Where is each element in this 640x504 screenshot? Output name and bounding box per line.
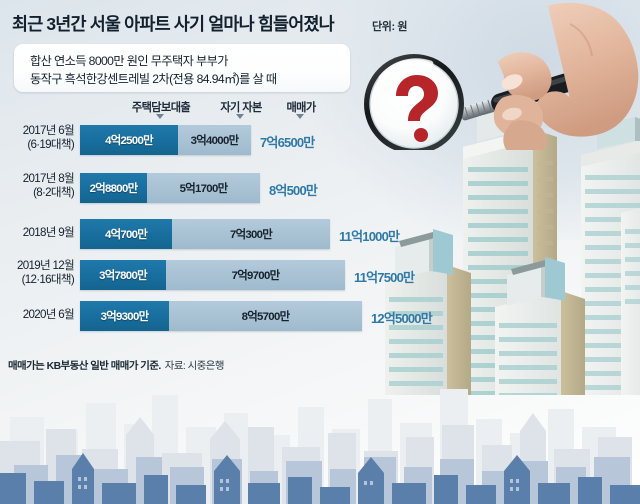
bar-segment-capital: 7억300만	[172, 219, 330, 249]
bar-total-price: 11억7500만	[354, 267, 414, 286]
page-title: 최근 3년간 서울 아파트 사기 얼마나 힘들어졌나	[12, 11, 334, 36]
row-label: 2018년 9월	[23, 226, 74, 240]
bar-segment-loan: 3억9300만	[80, 301, 169, 331]
row-label-policy: (6·19대책)	[23, 138, 74, 152]
bar-segment-capital: 3억4000만	[178, 125, 251, 155]
bar-total-price: 8억500만	[269, 180, 317, 199]
stacked-bar[interactable]: 4억700만7억300만	[80, 219, 330, 249]
column-header-price: 매매가	[256, 99, 346, 115]
row-label-date: 2019년 12월	[17, 259, 74, 272]
stacked-bar[interactable]: 3억7800만7억9700만	[80, 260, 345, 290]
city-skyline	[0, 369, 640, 504]
row-label-date: 2020년 6월	[23, 308, 74, 321]
row-label-date: 2017년 6월	[23, 124, 74, 137]
assumption-panel: 합산 연소득 8000만 원인 무주택자 부부가 동작구 흑석한강센트레빌 2차…	[14, 44, 350, 92]
unit-label: 단위: 원	[372, 18, 407, 34]
assumption-line-1: 합산 연소득 8000만 원인 무주택자 부부가	[30, 51, 228, 69]
bar-total-price: 7억6500만	[260, 132, 314, 151]
row-label: 2017년 8월(8·2대책)	[23, 172, 74, 200]
bar-segment-loan: 2억8800만	[80, 173, 147, 203]
infographic-canvas: 최근 3년간 서울 아파트 사기 얼마나 힘들어졌나 단위: 원 합산 연소득 …	[0, 0, 640, 504]
stacked-bar[interactable]: 2억8800만5억1700만	[80, 173, 260, 203]
caret-down-icon-capital	[236, 114, 244, 119]
row-label: 2020년 6월	[23, 308, 74, 322]
row-label-policy: (12·16대책)	[17, 273, 74, 287]
row-label-date: 2017년 8월	[23, 172, 74, 185]
bar-segment-capital: 8억5700만	[169, 301, 362, 331]
row-label-policy: (8·2대책)	[23, 186, 74, 200]
bar-total-price: 12억5000만	[371, 308, 432, 327]
row-label-date: 2018년 9월	[23, 226, 74, 239]
row-label: 2017년 6월(6·19대책)	[23, 124, 74, 152]
row-label: 2019년 12월(12·16대책)	[17, 259, 74, 287]
assumption-line-2: 동작구 흑석한강센트레빌 2차(전용 84.94㎡)를 살 때	[30, 69, 277, 87]
stacked-bar[interactable]: 3억9300만8억5700만	[80, 301, 362, 331]
bar-segment-loan: 4억700만	[80, 219, 172, 249]
bar-segment-loan: 4억2500만	[80, 125, 178, 155]
stacked-bar[interactable]: 4억2500만3억4000만	[80, 125, 251, 155]
bar-total-price: 11억1000만	[339, 226, 399, 245]
bar-segment-capital: 5억1700만	[147, 173, 260, 203]
bar-segment-loan: 3억7800만	[80, 260, 166, 290]
caret-down-icon-price	[296, 114, 304, 119]
bar-segment-capital: 7억9700만	[166, 260, 345, 290]
caret-down-icon-loan	[156, 114, 164, 119]
